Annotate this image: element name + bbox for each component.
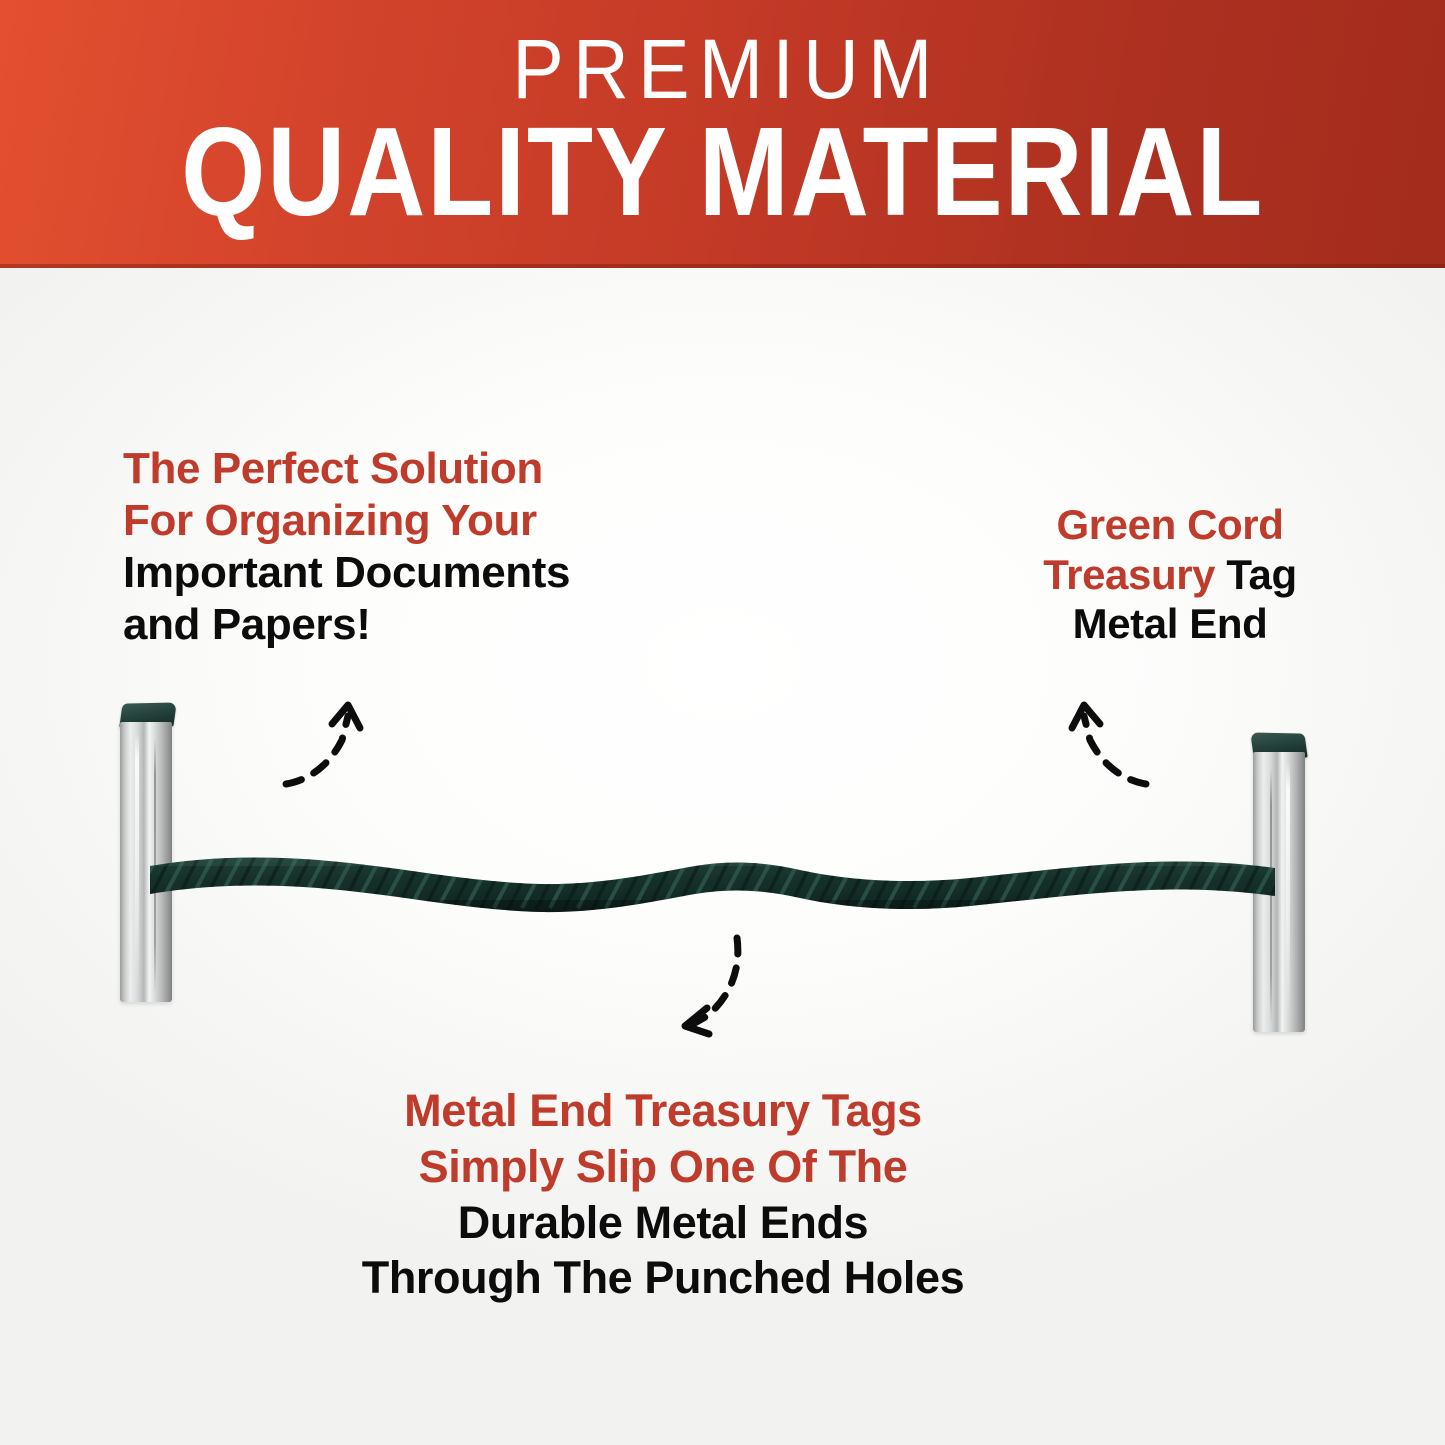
metal-end-left [120,722,172,1002]
callout-bottom-line-1: Metal End Treasury Tags [233,1083,1093,1139]
callout-right-red-2: Treasury [1043,551,1215,598]
callout-right: Green Cord Treasury Tag Metal End [960,500,1380,649]
callout-bottom-black-1: Durable Metal Ends [458,1197,868,1248]
callout-left-red-2: For Organizing Your [123,496,537,545]
callout-right-red-1: Green Cord [1056,501,1283,548]
metal-end-right [1253,752,1305,1032]
cord-tip-left-icon [119,702,176,727]
callout-right-line-3: Metal End [960,599,1380,649]
banner-title-line-1: PREMIUM [503,31,942,108]
curved-arrow-up-left-icon [1040,688,1170,803]
callout-right-black-inline: Tag [1226,551,1296,598]
header-banner: PREMIUM QUALITY MATERIAL [0,0,1445,268]
callout-left-black-2: and Papers! [123,600,370,649]
metal-seam-icon [154,739,156,994]
callout-bottom-red-1: Metal End Treasury Tags [404,1085,922,1136]
callout-bottom-line-2: Simply Slip One Of The [233,1139,1093,1195]
callout-left-line-3: Important Documents [123,547,743,599]
callout-left-red-1: The Perfect Solution [123,444,543,493]
callout-left-black-1: Important Documents [123,548,570,597]
rope-body [150,822,1275,932]
metal-highlight-icon [1286,763,1290,1015]
green-twisted-cord [150,822,1275,932]
callout-left-line-1: The Perfect Solution [123,443,743,495]
callout-bottom: Metal End Treasury Tags Simply Slip One … [233,1083,1093,1306]
callout-bottom-black-2: Through The Punched Holes [362,1252,965,1303]
curved-arrow-up-right-icon [262,688,392,803]
callout-right-line-2: Treasury Tag [960,550,1380,600]
callout-right-black-2: Metal End [1073,600,1268,647]
callout-left: The Perfect Solution For Organizing Your… [123,443,743,651]
curved-arrow-down-left-icon [655,922,785,1047]
callout-left-line-4: and Papers! [123,599,743,651]
banner-title-line-2: QUALITY MATERIAL [181,112,1264,233]
callout-bottom-line-4: Through The Punched Holes [233,1250,1093,1306]
metal-seam-icon [1270,769,1272,1024]
infographic-page: PREMIUM QUALITY MATERIAL [0,0,1445,1445]
callout-bottom-line-3: Durable Metal Ends [233,1195,1093,1251]
cord-tip-right-icon [1250,732,1307,757]
banner-text-group: PREMIUM QUALITY MATERIAL [0,0,1445,268]
callout-right-line-1: Green Cord [960,500,1380,550]
callout-left-line-2: For Organizing Your [123,495,743,547]
callout-bottom-red-2: Simply Slip One Of The [419,1141,908,1192]
metal-highlight-icon [135,733,139,985]
